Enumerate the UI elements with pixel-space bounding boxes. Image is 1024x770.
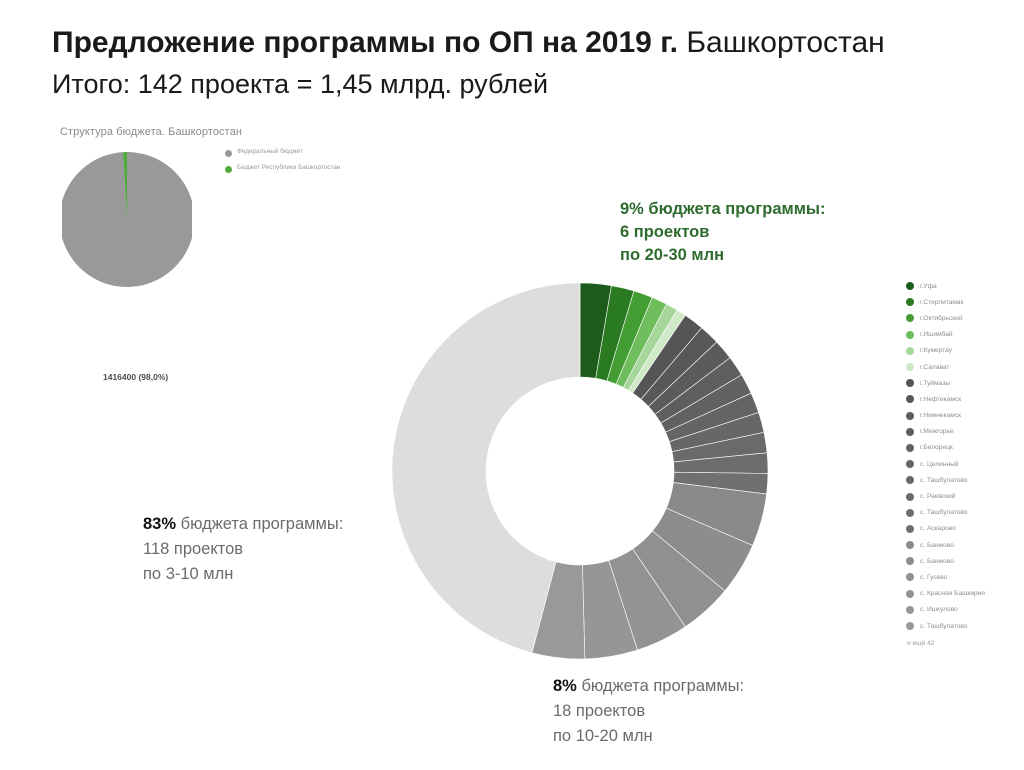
callout-10-20-mln: 8% бюджета программы: 18 проектов по 10-… — [553, 674, 744, 749]
city-legend-item[interactable]: с. Ташбулатово — [906, 472, 1024, 488]
budget-pie-title: Структура бюджета. Башкортостан — [60, 126, 242, 138]
city-legend-dot-icon — [906, 298, 914, 306]
page-title-region: Башкортостан — [686, 26, 884, 59]
callout-green-line2: 6 проектов — [620, 221, 826, 244]
city-legend-item[interactable]: г.Межгорье — [906, 424, 1024, 440]
city-legend-item[interactable]: г.Белорецк — [906, 440, 1024, 456]
callout-mid-rest: бюджета программы: — [577, 677, 744, 695]
city-legend-dot-icon — [906, 493, 914, 501]
city-legend-dot-icon — [906, 363, 914, 371]
city-legend-item[interactable]: г.Октябрьский — [906, 310, 1024, 326]
city-legend-label: г.Белорецк — [920, 443, 953, 452]
city-legend-dot-icon — [906, 573, 914, 581]
city-legend-label: с. Ташбулатово — [920, 622, 968, 631]
city-legend-dot-icon — [906, 557, 914, 565]
city-legend-dot-icon — [906, 444, 914, 452]
title-block: Предложение программы по ОП на 2019 г. Б… — [52, 24, 992, 102]
city-legend-label: г.Нефтекамск — [920, 395, 961, 404]
budget-pie-legend: Федеральный бюджет Бюджет Республики Баш… — [225, 148, 345, 180]
city-legend-label: г.Межгорье — [920, 427, 954, 436]
city-legend-dot-icon — [906, 314, 914, 322]
city-legend-label: г.Нижнекамск — [920, 411, 961, 420]
city-legend-label: с. Баимово — [920, 557, 954, 566]
callout-big-line3: по 3-10 млн — [143, 562, 343, 587]
city-legend-item[interactable]: с. Аскарово — [906, 521, 1024, 537]
city-legend-label: с. Красная Башкирия — [920, 589, 985, 598]
callout-big-percent: 83% — [143, 515, 176, 533]
page-title-bold: Предложение программы по ОП на 2019 г. — [52, 26, 678, 59]
city-legend-item[interactable]: с. Гусево — [906, 569, 1024, 585]
city-legend-dot-icon — [906, 428, 914, 436]
callout-3-10-mln: 83% бюджета программы: 118 проектов по 3… — [143, 512, 343, 587]
legend-item-republic[interactable]: Бюджет Республики Башкортостан — [225, 164, 345, 173]
city-legend-item[interactable]: с. Баимово — [906, 553, 1024, 569]
callout-big-rest: бюджета программы: — [176, 515, 343, 533]
callout-green-line1: 9% бюджета программы: — [620, 198, 826, 221]
city-legend-label: с. Ташбулатово — [920, 508, 968, 517]
city-legend-item[interactable]: с. Красная Башкирия — [906, 586, 1024, 602]
callout-mid-line1: 8% бюджета программы: — [553, 674, 744, 699]
city-legend-item[interactable]: г.Уфа — [906, 278, 1024, 294]
city-legend-more-label[interactable]: и ещё 42 — [907, 640, 1024, 647]
city-legend-dot-icon — [906, 331, 914, 339]
city-legend-dot-icon — [906, 622, 914, 630]
callout-big-line2: 118 проектов — [143, 537, 343, 562]
city-legend-item[interactable]: г.Салават — [906, 359, 1024, 375]
city-legend-item[interactable]: г.Туймазы — [906, 375, 1024, 391]
city-legend-label: с. Аскарово — [920, 524, 956, 533]
budget-pie-value-label: 1416400 (98,0%) — [103, 372, 168, 382]
city-legend-item[interactable]: г.Ишимбай — [906, 327, 1024, 343]
city-legend-dot-icon — [906, 347, 914, 355]
city-legend-label: г.Октябрьский — [920, 314, 963, 323]
city-legend-dot-icon — [906, 395, 914, 403]
city-legend-dot-icon — [906, 525, 914, 533]
city-legend-label: с. Ишкулово — [920, 605, 958, 614]
city-legend-dot-icon — [906, 476, 914, 484]
page-title: Предложение программы по ОП на 2019 г. Б… — [52, 24, 992, 62]
city-legend: г.Уфаг.Стерлитамакг.Октябрьскийг.Ишимбай… — [906, 278, 1024, 647]
legend-item-federal[interactable]: Федеральный бюджет — [225, 148, 345, 157]
legend-label-federal: Федеральный бюджет — [237, 148, 303, 156]
callout-20-30-mln: 9% бюджета программы: 6 проектов по 20-3… — [620, 198, 826, 267]
city-legend-item[interactable]: с. Раевский — [906, 488, 1024, 504]
budget-structure-pie-panel: Структура бюджета. Башкортостан 1416400 … — [45, 122, 345, 302]
slide-canvas: Предложение программы по ОП на 2019 г. Б… — [0, 0, 1024, 770]
city-legend-item[interactable]: г.Нефтекамск — [906, 391, 1024, 407]
legend-label-republic: Бюджет Республики Башкортостан — [237, 164, 340, 172]
city-legend-item[interactable]: г.Нижнекамск — [906, 408, 1024, 424]
city-legend-label: г.Салават — [920, 363, 949, 372]
city-legend-item[interactable]: г.Стерлитамак — [906, 294, 1024, 310]
city-legend-item[interactable]: с. Целинный — [906, 456, 1024, 472]
city-legend-item[interactable]: с. Ташбулатово — [906, 505, 1024, 521]
city-legend-label: с. Гусево — [920, 573, 947, 582]
city-legend-dot-icon — [906, 606, 914, 614]
city-legend-dot-icon — [906, 282, 914, 290]
legend-dot-icon — [225, 150, 232, 157]
callout-mid-percent: 8% — [553, 677, 577, 695]
city-legend-dot-icon — [906, 412, 914, 420]
city-legend-label: г.Стерлитамак — [920, 298, 963, 307]
page-subtitle: Итого: 142 проекта = 1,45 млрд. рублей — [52, 66, 992, 102]
city-legend-label: г.Уфа — [920, 282, 937, 291]
city-legend-item[interactable]: г.Кумертау — [906, 343, 1024, 359]
callout-mid-line2: 18 проектов — [553, 699, 744, 724]
city-legend-item[interactable]: с. Баимово — [906, 537, 1024, 553]
city-legend-label: с. Баимово — [920, 541, 954, 550]
city-legend-label: г.Кумертау — [920, 346, 952, 355]
legend-dot-icon — [225, 166, 232, 173]
city-legend-label: с. Ташбулатово — [920, 476, 968, 485]
budget-pie-chart — [62, 152, 192, 287]
city-legend-label: с. Раевский — [920, 492, 955, 501]
callout-green-line3: по 20-30 млн — [620, 244, 826, 267]
donut-svg[interactable] — [392, 283, 768, 659]
projects-donut-chart — [392, 283, 768, 659]
callout-mid-line3: по 10-20 млн — [553, 724, 744, 749]
city-legend-dot-icon — [906, 541, 914, 549]
city-legend-label: с. Целинный — [920, 460, 959, 469]
city-legend-item[interactable]: с. Ишкулово — [906, 602, 1024, 618]
city-legend-dot-icon — [906, 379, 914, 387]
city-legend-dot-icon — [906, 590, 914, 598]
city-legend-dot-icon — [906, 460, 914, 468]
city-legend-dot-icon — [906, 509, 914, 517]
city-legend-label: г.Туймазы — [920, 379, 950, 388]
city-legend-item[interactable]: с. Ташбулатово — [906, 618, 1024, 634]
city-legend-label: г.Ишимбай — [920, 330, 953, 339]
callout-big-line1: 83% бюджета программы: — [143, 512, 343, 537]
